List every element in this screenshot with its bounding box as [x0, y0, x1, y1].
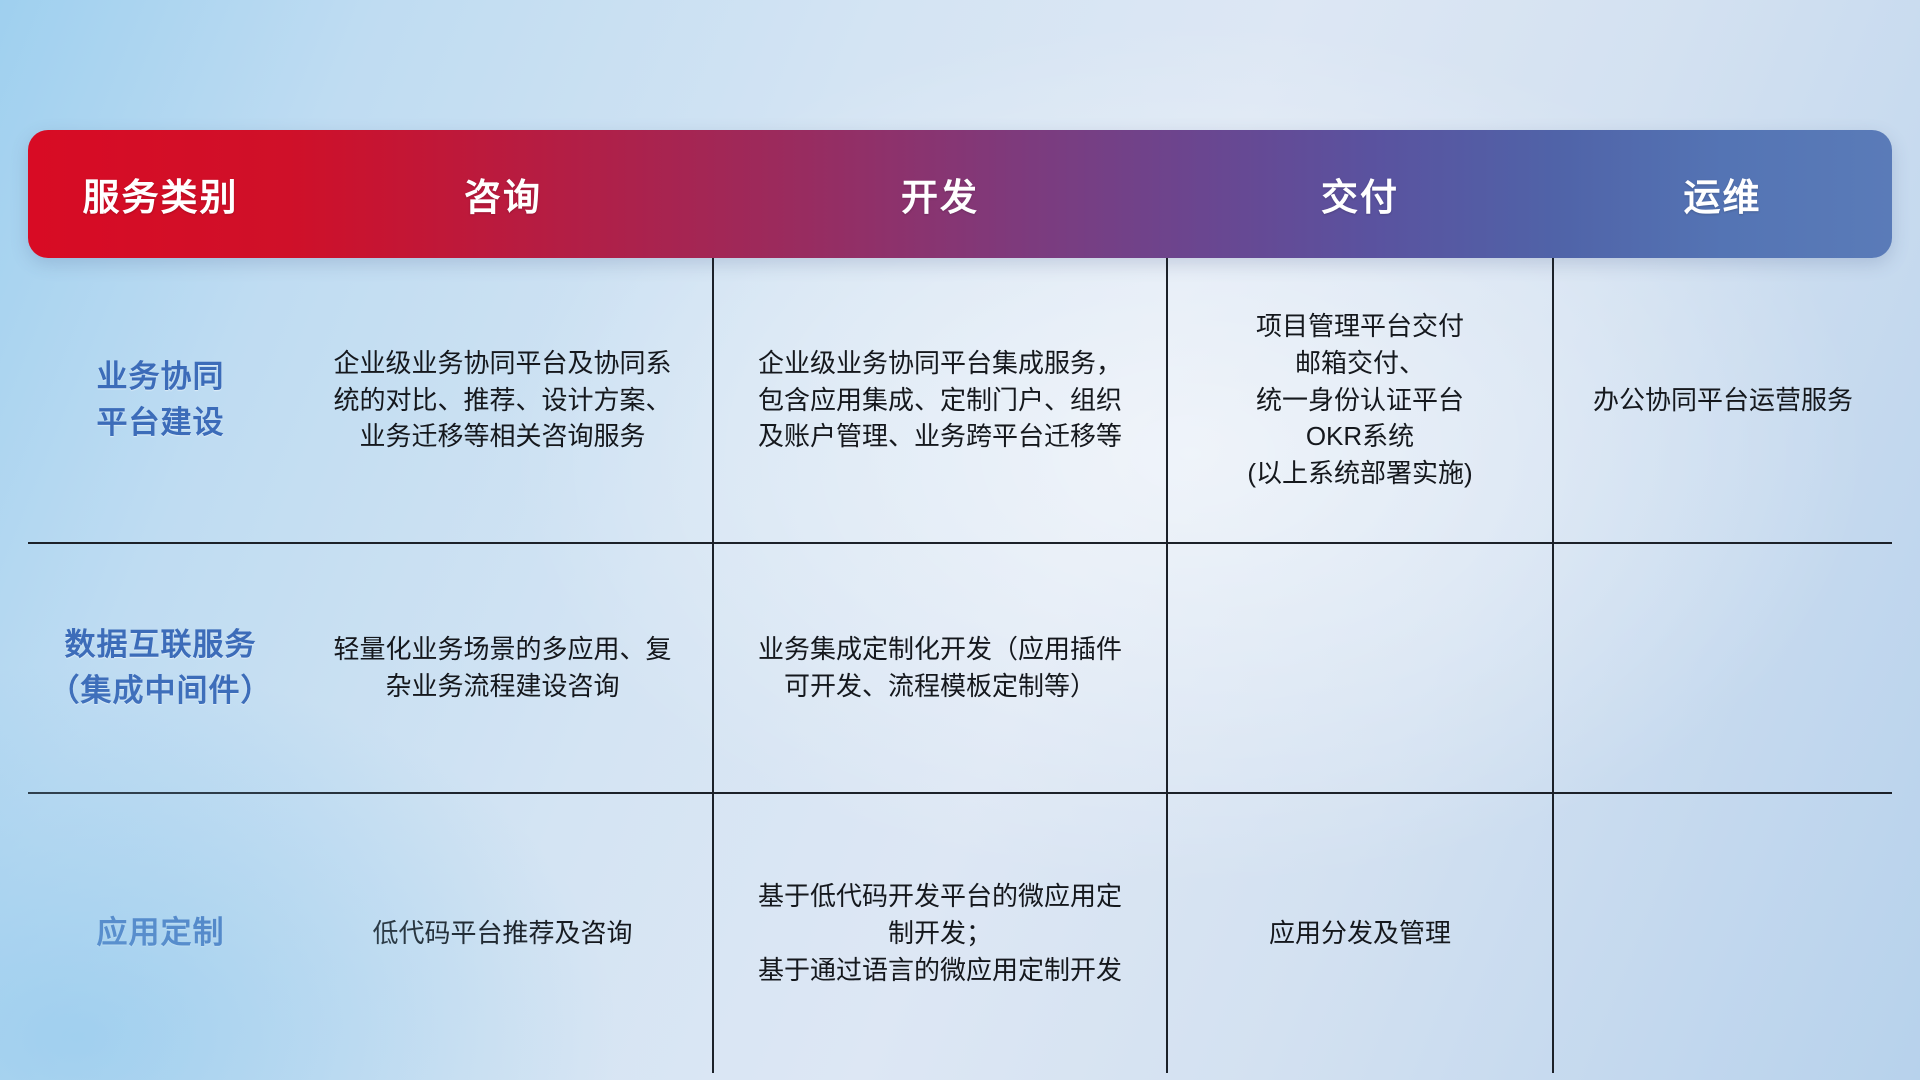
header-cell-operations: 运维: [1553, 130, 1892, 258]
slide-canvas: 服务类别 咨询 开发 交付 运维 业务协同 平台建设 企业级业务协同平台及协同系…: [0, 0, 1920, 1080]
header-cell-consulting: 咨询: [293, 130, 713, 258]
row-category-label: 业务协同 平台建设: [28, 258, 293, 543]
cell-operations: [1553, 543, 1892, 793]
cell-development: 业务集成定制化开发（应用插件 可开发、流程模板定制等）: [713, 543, 1167, 793]
cell-operations: 办公协同平台运营服务: [1553, 258, 1892, 543]
cell-delivery: [1167, 543, 1553, 793]
table-row: 业务协同 平台建设 企业级业务协同平台及协同系 统的对比、推荐、设计方案、 业务…: [28, 258, 1892, 543]
table-body: 业务协同 平台建设 企业级业务协同平台及协同系 统的对比、推荐、设计方案、 业务…: [28, 258, 1892, 1073]
cell-delivery: 项目管理平台交付 邮箱交付、 统一身份认证平台 OKR系统 (以上系统部署实施): [1167, 258, 1553, 543]
table-row: 数据互联服务 （集成中间件） 轻量化业务场景的多应用、复 杂业务流程建设咨询 业…: [28, 543, 1892, 793]
row-category-label: 数据互联服务 （集成中间件）: [28, 543, 293, 793]
cell-development: 基于低代码开发平台的微应用定 制开发； 基于通过语言的微应用定制开发: [713, 793, 1167, 1073]
table-row: 应用定制 低代码平台推荐及咨询 基于低代码开发平台的微应用定 制开发； 基于通过…: [28, 793, 1892, 1073]
row-category-label: 应用定制: [28, 793, 293, 1073]
cell-consulting: 企业级业务协同平台及协同系 统的对比、推荐、设计方案、 业务迁移等相关咨询服务: [293, 258, 713, 543]
header-row: 服务类别 咨询 开发 交付 运维: [28, 130, 1892, 258]
cell-operations: [1553, 793, 1892, 1073]
header-cell-development: 开发: [713, 130, 1167, 258]
service-matrix-table: 服务类别 咨询 开发 交付 运维 业务协同 平台建设 企业级业务协同平台及协同系…: [28, 130, 1892, 948]
header-cell-delivery: 交付: [1167, 130, 1553, 258]
cell-development: 企业级业务协同平台集成服务， 包含应用集成、定制门户、组织 及账户管理、业务跨平…: [713, 258, 1167, 543]
cell-consulting: 轻量化业务场景的多应用、复 杂业务流程建设咨询: [293, 543, 713, 793]
header-cell-category: 服务类别: [28, 130, 293, 258]
service-table: 服务类别 咨询 开发 交付 运维 业务协同 平台建设 企业级业务协同平台及协同系…: [28, 130, 1892, 1073]
cell-delivery: 应用分发及管理: [1167, 793, 1553, 1073]
table-head: 服务类别 咨询 开发 交付 运维: [28, 130, 1892, 258]
cell-consulting: 低代码平台推荐及咨询: [293, 793, 713, 1073]
